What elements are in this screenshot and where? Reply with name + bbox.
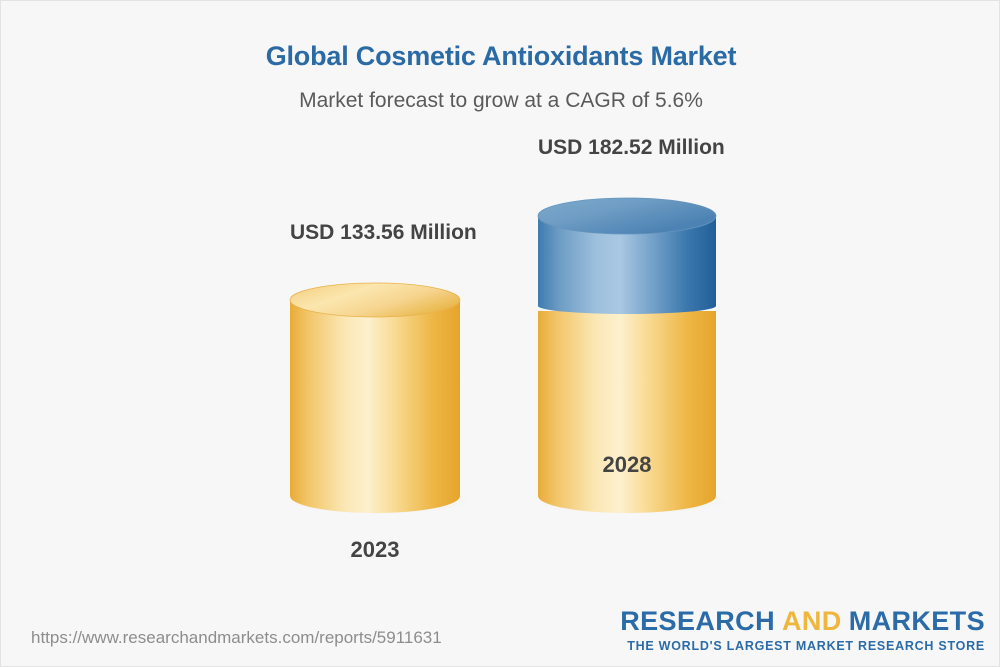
cylinder-body xyxy=(290,300,460,513)
value-label-2028: USD 182.52 Million xyxy=(538,136,716,160)
logo-word-research: RESEARCH xyxy=(620,606,775,636)
research-and-markets-logo[interactable]: RESEARCHANDMARKETS THE WORLD'S LARGEST M… xyxy=(620,608,985,653)
logo-word-markets: MARKETS xyxy=(849,606,985,636)
logo-tagline: THE WORLD'S LARGEST MARKET RESEARCH STOR… xyxy=(620,640,985,653)
category-label-2028: 2028 xyxy=(538,452,716,478)
chart-canvas: Global Cosmetic Antioxidants Market Mark… xyxy=(0,0,1000,667)
plot-area: USD 133.56 Million xyxy=(1,1,1000,601)
bar-group-2028: USD 182.52 Million xyxy=(538,198,716,513)
category-label-2023: 2023 xyxy=(290,537,460,563)
cylinder-2023 xyxy=(290,283,460,513)
source-url[interactable]: https://www.researchandmarkets.com/repor… xyxy=(31,628,442,648)
logo-word-and: AND xyxy=(782,606,842,636)
cylinder-segment-base xyxy=(538,311,716,513)
cylinder-top xyxy=(290,283,460,317)
bar-group-2023: USD 133.56 Million xyxy=(290,283,460,513)
value-label-2023: USD 133.56 Million xyxy=(290,221,460,245)
logo-wordmark: RESEARCHANDMARKETS xyxy=(620,608,985,635)
cylinder-top xyxy=(538,198,716,234)
